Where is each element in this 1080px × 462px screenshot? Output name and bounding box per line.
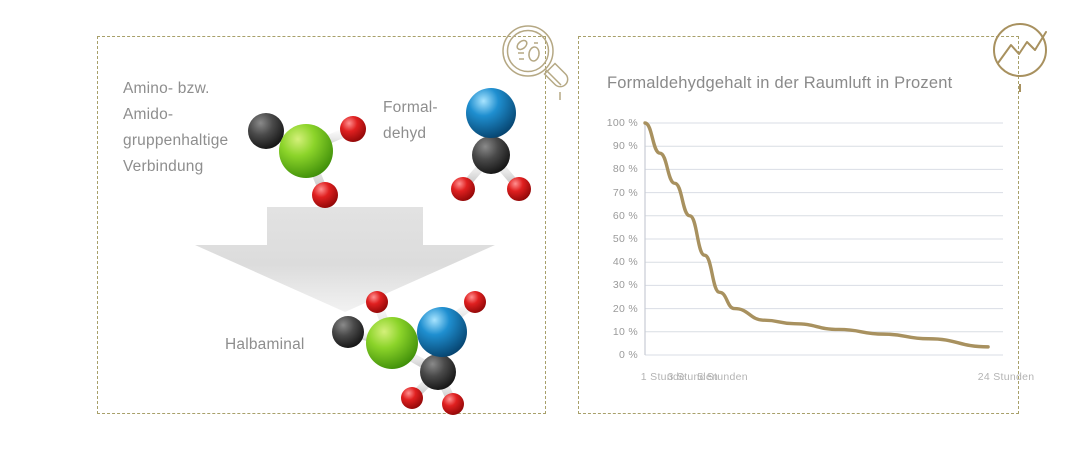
y-axis-tick-label: 20 % [597, 303, 638, 315]
halbaminal-molecule [320, 280, 510, 420]
x-axis-tick-label: 5 Stunden [697, 371, 748, 383]
trend-circle-icon [988, 18, 1066, 98]
x-axis-tick-label: 24 Stunden [978, 371, 1035, 383]
y-axis-tick-label: 80 % [597, 163, 638, 175]
amine-molecule [233, 87, 383, 227]
series-line [645, 123, 988, 347]
reaction-panel: Amino- bzw. Amido- gruppenhaltige Verbin… [97, 36, 546, 414]
y-axis-tick-label: 50 % [597, 233, 638, 245]
y-axis-tick-label: 70 % [597, 187, 638, 199]
y-axis-tick-label: 90 % [597, 140, 638, 152]
y-axis-tick-label: 40 % [597, 256, 638, 268]
y-axis-tick-label: 60 % [597, 210, 638, 222]
y-axis-tick-label: 30 % [597, 279, 638, 291]
chart-title: Formaldehydgehalt in der Raumluft in Pro… [607, 74, 952, 93]
y-axis-tick-label: 100 % [597, 117, 638, 129]
chart-plot-area: 100 %90 %80 %70 %60 %50 %40 %30 %20 %10 … [597, 117, 1007, 397]
chart-svg [597, 117, 1007, 397]
chart-panel: Formaldehydgehalt in der Raumluft in Pro… [578, 36, 1019, 414]
magnifier-molecule-icon [498, 22, 574, 100]
y-axis-tick-label: 0 % [597, 349, 638, 361]
y-axis-tick-label: 10 % [597, 326, 638, 338]
